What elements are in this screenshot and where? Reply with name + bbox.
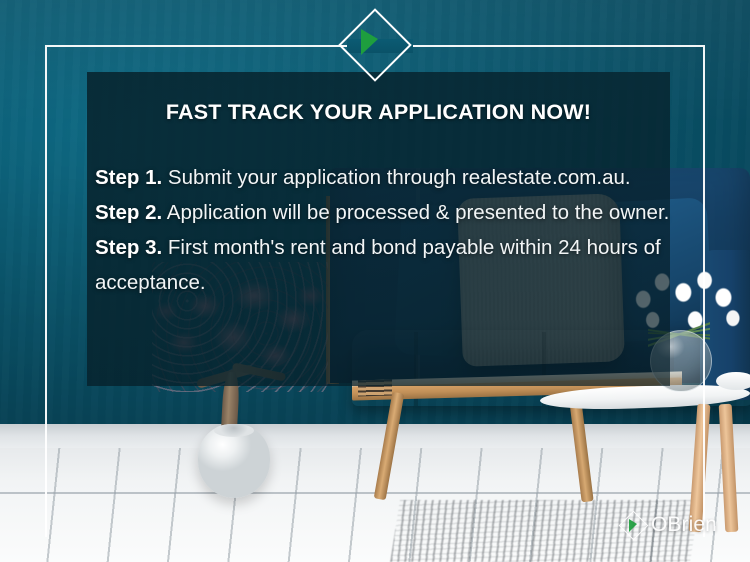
poster-canvas: FAST TRACK YOUR APPLICATION NOW! Step 1.… — [0, 0, 750, 562]
step-text: Application will be processed & presente… — [162, 201, 669, 224]
list-item: Step 3. First month's rent and bond paya… — [95, 230, 670, 300]
obrien-logo: OBrien — [620, 512, 717, 538]
logo-wordmark: OBrien — [651, 513, 717, 537]
skirting-board — [0, 424, 750, 450]
poster-content: FAST TRACK YOUR APPLICATION NOW! Step 1.… — [87, 72, 670, 386]
diamond-arrow-icon — [620, 512, 646, 538]
step-label: Step 1. — [95, 166, 162, 189]
green-arrow-shape — [361, 29, 378, 55]
diamond-arrow-emblem-icon — [349, 19, 401, 71]
small-bowl — [716, 372, 750, 390]
logo-green-arrow — [629, 519, 637, 532]
page-title: FAST TRACK YOUR APPLICATION NOW! — [87, 100, 670, 125]
steps-list: Step 1. Submit your application through … — [95, 160, 670, 300]
list-item: Step 1. Submit your application through … — [95, 160, 670, 195]
plant-pot-rim — [214, 424, 254, 437]
list-item: Step 2. Application will be processed & … — [95, 195, 670, 230]
step-label: Step 2. — [95, 201, 162, 224]
step-text: Submit your application through realesta… — [162, 166, 630, 189]
step-text: First month's rent and bond payable with… — [95, 236, 661, 294]
step-label: Step 3. — [95, 236, 162, 259]
